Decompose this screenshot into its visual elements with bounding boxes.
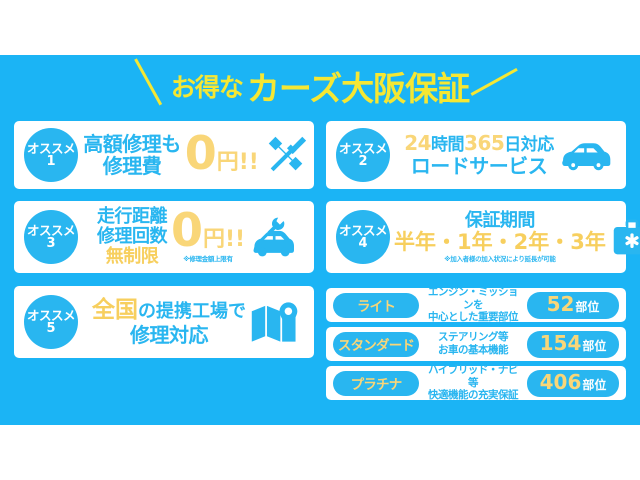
highlight-number: 0 (171, 211, 203, 251)
toolbox-icon (610, 216, 640, 258)
feature-line-1: 全国の提携工場で (92, 298, 246, 324)
feature-line-1: 保証期間 (394, 211, 606, 231)
feature-line-2: 修理回数 (97, 227, 167, 247)
plan-tier-standard[interactable]: スタンダード ステアリング等 お車の基本機能 154 部位 (326, 327, 626, 361)
feature-card-2: オススメ 2 24時間365日対応 ロードサービス (326, 121, 626, 189)
tier-desc-line-1: エンジン・ミッションを (425, 286, 521, 311)
tier-description: ステアリング等 お車の基本機能 (425, 331, 521, 356)
badge-number: 1 (46, 155, 55, 169)
badge-label: オススメ (27, 142, 75, 155)
plan-tier-light[interactable]: ライト エンジン・ミッションを 中心とした重要部位 52 部位 (326, 288, 626, 322)
tier-name-badge: プラチナ (333, 371, 419, 396)
warranty-poster: ＼ お得な カーズ大阪保証 ／ オススメ 1 高額修理も 修理費 0 円!! (0, 0, 640, 480)
headline-main: カーズ大阪保証 (247, 62, 469, 110)
tier-coverage-count: 154 部位 (527, 331, 619, 358)
page-title: ＼ お得な カーズ大阪保証 ／ (0, 62, 640, 110)
highlight-number: 0 (185, 134, 217, 174)
feature-line-1: 走行距離 (97, 207, 167, 227)
feature-card-1-text: 高額修理も 修理費 (83, 133, 181, 178)
feature-line-2: 修理費 (83, 155, 181, 177)
feature-line-2: ロードサービス (404, 155, 554, 177)
plan-tier-platinum[interactable]: プラチナ ハイブリッド・ナビ等 快適機能の充実保証 406 部位 (326, 366, 626, 400)
feature-card-5-text: 全国の提携工場で 修理対応 (92, 298, 246, 346)
feature-card-4-text: 保証期間 半年・1年・2年・3年 ※加入者様の加入状況により延長が可能 (394, 211, 606, 264)
left-slash-decoration: ＼ (123, 59, 172, 108)
feature-card-2-body: 24時間365日対応 ロードサービス (390, 132, 626, 177)
feature-card-1-highlight: 0 円!! (185, 134, 259, 176)
feature-line-1: 24時間365日対応 (404, 132, 554, 155)
badge-number: 5 (46, 322, 55, 336)
feature-card-5: オススメ 5 全国の提携工場で 修理対応 (14, 286, 314, 358)
feature-line-1: 高額修理も (83, 133, 181, 155)
hours-number: 24 (404, 131, 431, 155)
feature-card-4-body: 保証期間 半年・1年・2年・3年 ※加入者様の加入状況により延長が可能 (390, 211, 640, 264)
recommend-badge-4: オススメ 4 (336, 210, 390, 264)
tier-name-badge: スタンダード (333, 332, 419, 357)
tier-desc-line-1: ハイブリッド・ナビ等 (425, 364, 521, 389)
feature-line-2: 半年・1年・2年・3年 (394, 231, 606, 255)
feature-card-2-text: 24時間365日対応 ロードサービス (404, 132, 554, 177)
tier-desc-line-1: ステアリング等 (425, 331, 521, 344)
tier-desc-line-2: 中心とした重要部位 (425, 311, 521, 324)
tier-count-unit: 部位 (582, 376, 606, 393)
badge-number: 3 (46, 237, 55, 251)
headline-prefix: お得な (171, 68, 243, 104)
badge-label: オススメ (339, 224, 387, 237)
tier-coverage-count: 52 部位 (527, 292, 619, 319)
car-wrench-icon (249, 215, 295, 259)
badge-number: 4 (358, 237, 367, 251)
recommend-badge-2: オススメ 2 (336, 128, 390, 182)
crossed-hammers-icon (263, 132, 309, 178)
feature-card-5-body: 全国の提携工場で 修理対応 (78, 298, 314, 346)
tier-count-number: 154 (540, 331, 582, 355)
feature-line-2: 修理対応 (92, 324, 246, 346)
fine-print-note: ※加入者様の加入状況により延長が可能 (394, 256, 606, 263)
tier-description: ハイブリッド・ナビ等 快適機能の充実保証 (425, 364, 521, 402)
feature-line-3: 無制限 (97, 247, 167, 267)
feature-card-3-highlight: 0 円!! ※修理金額上限有 (171, 211, 245, 263)
tier-name-badge: ライト (333, 293, 419, 318)
nationwide-rest: の提携工場で (138, 301, 246, 322)
tier-desc-line-2: お車の基本機能 (425, 344, 521, 357)
car-icon (558, 138, 612, 172)
highlight-unit: 円!! (203, 221, 245, 253)
feature-card-3-text: 走行距離 修理回数 無制限 (97, 207, 167, 267)
feature-card-4: オススメ 4 保証期間 半年・1年・2年・3年 ※加入者様の加入状況により延長が… (326, 201, 626, 273)
tier-desc-line-2: 快適機能の充実保証 (425, 389, 521, 402)
tier-coverage-count: 406 部位 (527, 370, 619, 397)
feature-card-3: オススメ 3 走行距離 修理回数 無制限 0 円!! ※修理金額上限有 (14, 201, 314, 273)
tier-count-number: 406 (540, 370, 582, 394)
recommend-badge-1: オススメ 1 (24, 128, 78, 182)
badge-label: オススメ (27, 224, 75, 237)
badge-label: オススメ (27, 309, 75, 322)
tier-description: エンジン・ミッションを 中心とした重要部位 (425, 286, 521, 324)
badge-label: オススメ (339, 142, 387, 155)
badge-number: 2 (358, 155, 367, 169)
feature-card-3-body: 走行距離 修理回数 無制限 0 円!! ※修理金額上限有 (78, 207, 314, 267)
right-slash-decoration: ／ (469, 59, 518, 108)
highlight-group: 0 円!! (171, 211, 245, 253)
feature-card-1-body: 高額修理も 修理費 0 円!! (78, 132, 314, 178)
recommend-badge-5: オススメ 5 (24, 295, 78, 349)
tier-count-unit: 部位 (575, 298, 599, 315)
days-number: 365 (464, 131, 504, 155)
hours-unit: 時間 (431, 135, 464, 155)
tier-count-number: 52 (547, 292, 575, 316)
highlight-unit: 円!! (217, 144, 259, 176)
map-pin-icon (250, 300, 300, 344)
days-unit: 日対応 (504, 135, 554, 155)
tier-count-unit: 部位 (582, 337, 606, 354)
recommend-badge-3: オススメ 3 (24, 210, 78, 264)
fine-print-note: ※修理金額上限有 (183, 253, 232, 263)
nationwide-highlight: 全国 (92, 297, 138, 323)
feature-card-1: オススメ 1 高額修理も 修理費 0 円!! (14, 121, 314, 189)
